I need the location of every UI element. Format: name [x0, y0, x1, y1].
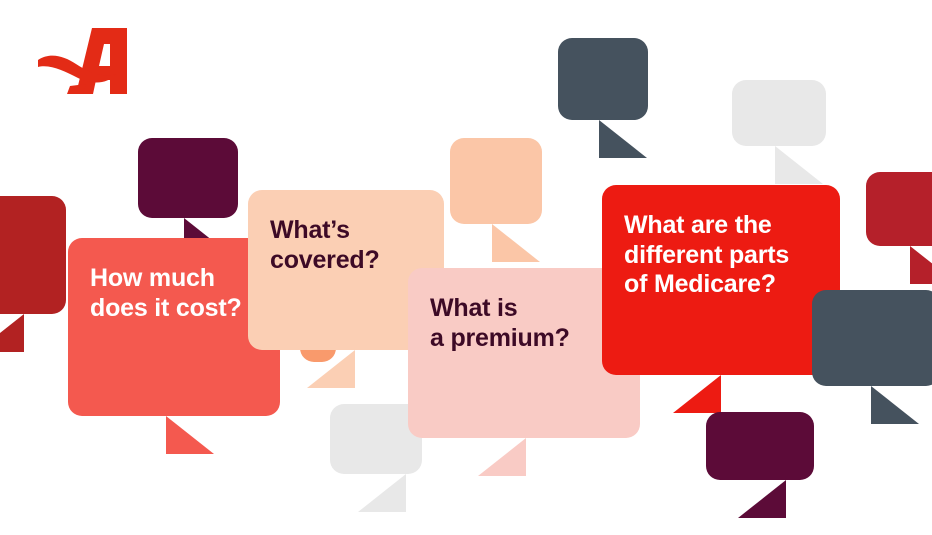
bubble-how-much-cost-tail [166, 416, 214, 454]
deco-bubble-slate-top [558, 38, 648, 120]
deco-bubble-slate-right-tail [871, 386, 919, 424]
deco-bubble-peach-upper [450, 138, 542, 224]
medicare-questions-graphic: How much does it cost?What’s covered?Wha… [0, 0, 932, 535]
bubble-what-is-a-premium-tail [478, 438, 526, 476]
deco-bubble-dark-red-left-tail [0, 314, 24, 352]
bubble-parts-of-medicare-tail [673, 375, 721, 413]
bubble-parts-of-medicare-text: What are the different parts of Medicare… [602, 185, 840, 300]
bubble-whats-covered-text: What’s covered? [248, 190, 444, 275]
bubble-parts-of-medicare: What are the different parts of Medicare… [602, 185, 840, 375]
deco-bubble-gray-top-right [732, 80, 826, 146]
deco-bubble-crimson-right [866, 172, 932, 246]
deco-bubble-gray-top-right-tail [775, 146, 823, 184]
deco-bubble-gray-bottom-tail [358, 474, 406, 512]
deco-bubble-maroon-bottom-tail [738, 480, 786, 518]
deco-bubble-maroon-upper [138, 138, 238, 218]
deco-bubble-slate-top-tail [599, 120, 647, 158]
aarp-logo [30, 22, 140, 112]
deco-bubble-crimson-right-tail [910, 246, 932, 284]
deco-bubble-maroon-bottom [706, 412, 814, 480]
deco-bubble-peach-upper-tail [492, 224, 540, 262]
bubble-whats-covered-tail [307, 350, 355, 388]
deco-bubble-dark-red-left [0, 196, 66, 314]
deco-bubble-slate-right [812, 290, 932, 386]
